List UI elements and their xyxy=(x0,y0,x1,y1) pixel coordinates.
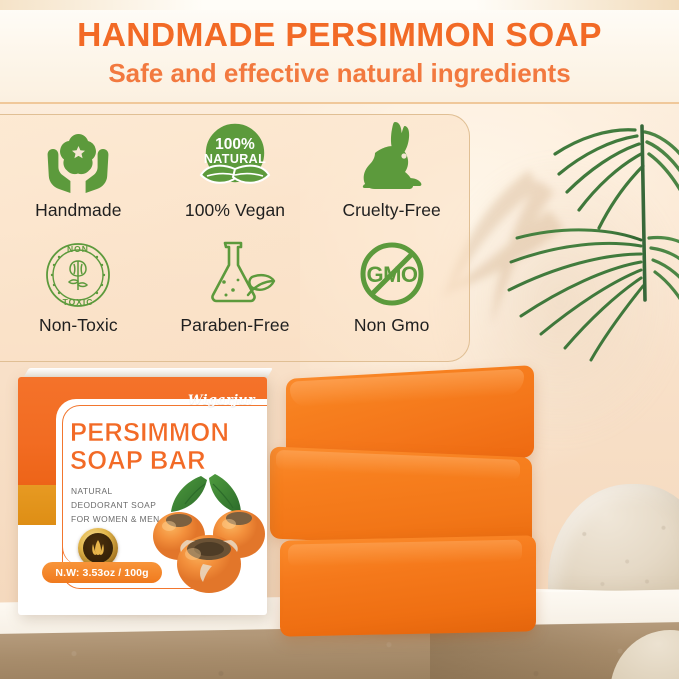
badge-label: Non Gmo xyxy=(354,315,430,336)
flask-with-leaf-icon xyxy=(194,239,276,311)
badge-label: Handmade xyxy=(35,200,121,221)
soap-bars-stack xyxy=(276,372,556,640)
page-title: HANDMADE PERSIMMON SOAP xyxy=(0,17,679,55)
net-weight-text: N.W: 3.53oz / 100g xyxy=(55,567,148,579)
badge-text-line2: NATURAL xyxy=(204,152,266,166)
non-toxic-seal-icon: NON TOXIC xyxy=(38,239,118,311)
soap-bar-bottom xyxy=(280,535,536,636)
badge-cruelty-free: Cruelty-Free xyxy=(313,118,470,239)
persimmon-fruit-illustration-icon xyxy=(145,468,273,600)
product-marketing-image: HANDMADE PERSIMMON SOAP Safe and effecti… xyxy=(0,0,679,679)
rabbit-icon xyxy=(357,118,427,196)
natural-gold-seal-inner xyxy=(83,533,113,563)
brand-name: Wigarjur xyxy=(188,393,255,408)
badge-label: Non-Toxic xyxy=(39,315,118,336)
product-box-amber-accent xyxy=(18,485,56,525)
badge-label: Cruelty-Free xyxy=(342,200,440,221)
product-title-line1: PERSIMMON xyxy=(70,419,229,448)
net-weight-badge: N.W: 3.53oz / 100g xyxy=(42,562,162,583)
badge-paraben-free: Paraben-Free xyxy=(157,239,314,360)
badge-label: 100% Vegan xyxy=(185,200,285,221)
feature-badges-grid: Handmade 100% NATURAL 100% Vegan xyxy=(0,118,470,360)
no-gmo-icon: GMO xyxy=(354,239,430,311)
badge-vegan: 100% NATURAL 100% Vegan xyxy=(157,118,314,239)
hundred-percent-natural-badge-icon: 100% NATURAL xyxy=(195,118,275,196)
badge-handmade: Handmade xyxy=(0,118,157,239)
soap-bar-middle xyxy=(270,447,532,550)
hands-holding-flower-icon xyxy=(39,118,117,196)
badge-non-gmo: GMO Non Gmo xyxy=(313,239,470,360)
page-subtitle: Safe and effective natural ingredients xyxy=(0,58,679,89)
badge-text-line1: NON xyxy=(67,244,89,254)
header-banner: HANDMADE PERSIMMON SOAP Safe and effecti… xyxy=(0,0,679,104)
badge-text-line1: 100% xyxy=(215,136,255,153)
badge-label: Paraben-Free xyxy=(180,315,289,336)
badge-text-line2: TOXIC xyxy=(63,297,94,307)
badge-non-toxic: NON TOXIC Non-Toxic xyxy=(0,239,157,360)
